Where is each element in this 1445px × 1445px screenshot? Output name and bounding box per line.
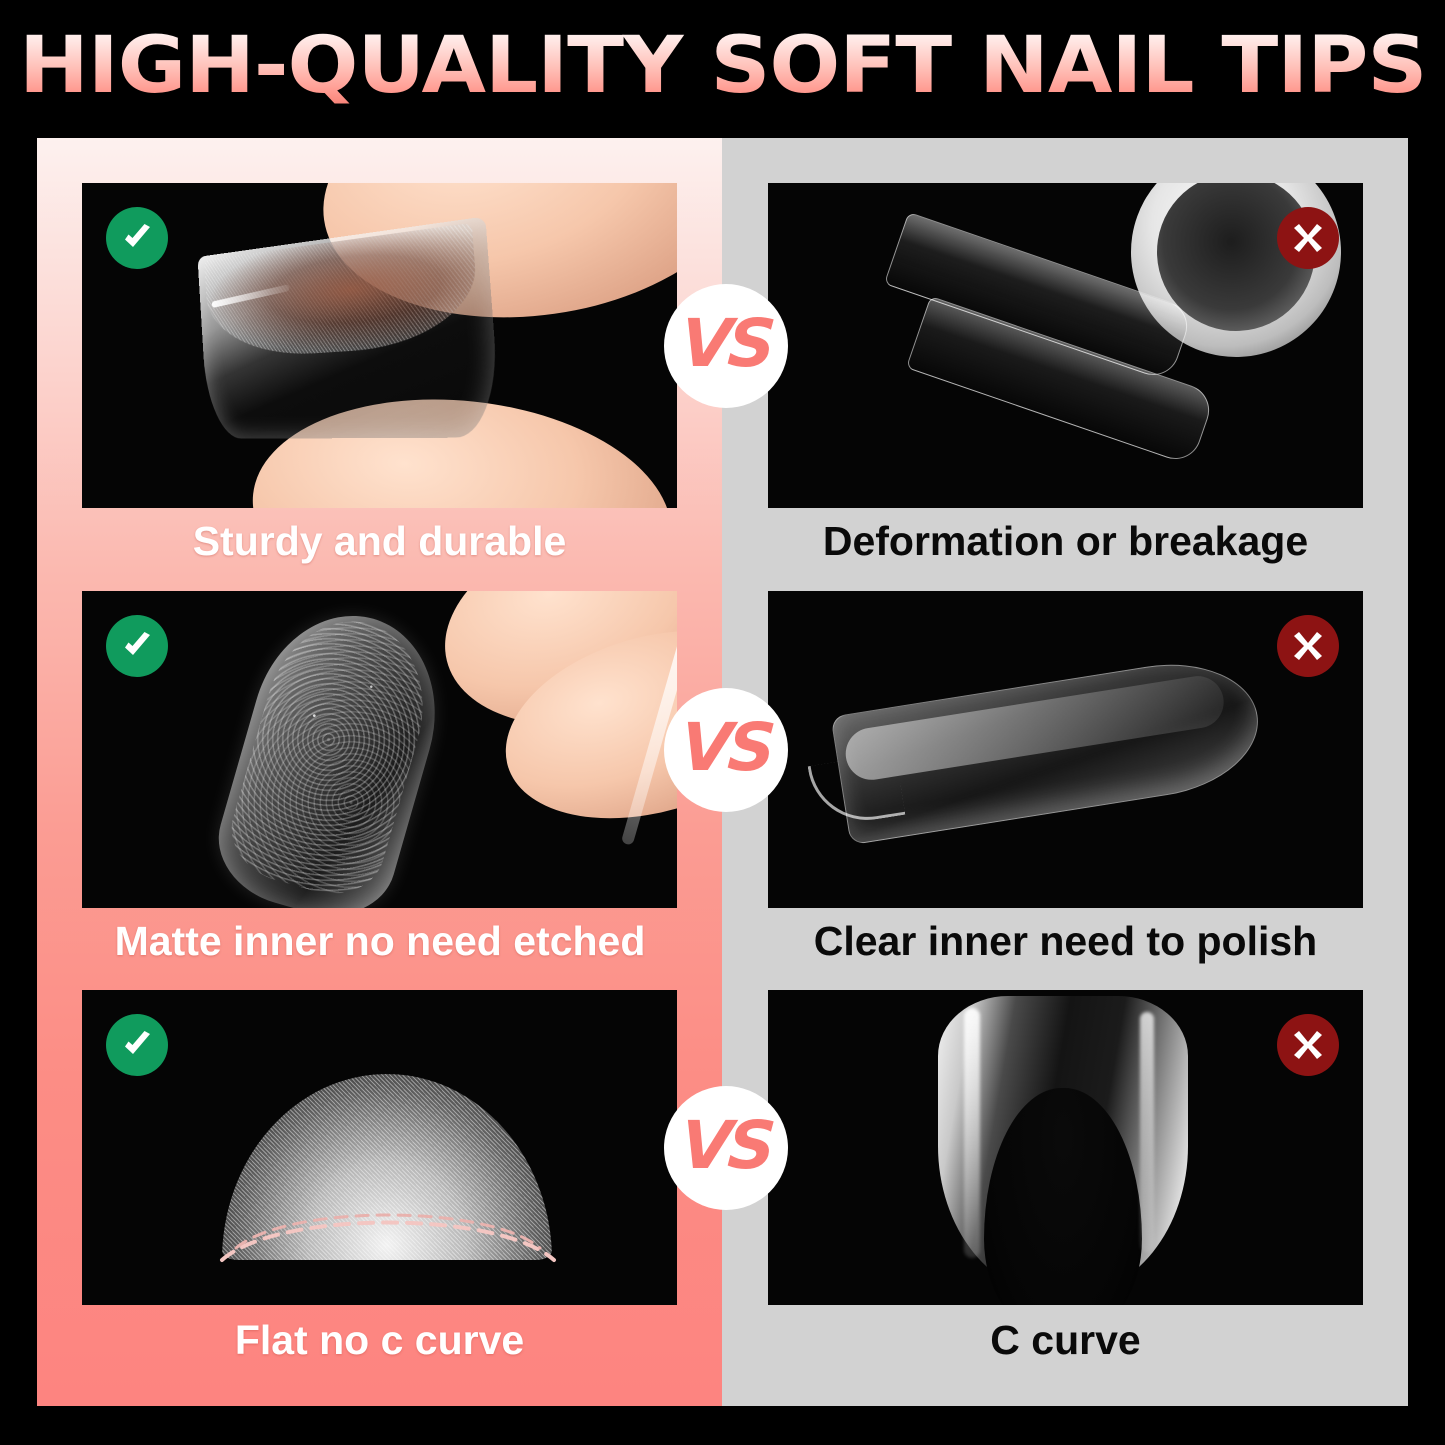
cross-icon bbox=[1277, 1014, 1339, 1076]
page-title: HIGH-QUALITY SOFT NAIL TIPS bbox=[19, 21, 1426, 111]
row-2-good-caption: Matte inner no need etched bbox=[70, 918, 690, 965]
cross-icon bbox=[1277, 207, 1339, 269]
row-3-good-photo bbox=[82, 990, 677, 1305]
infographic-poster: HIGH-QUALITY SOFT NAIL TIPS bbox=[0, 0, 1445, 1445]
row-1-bad-photo bbox=[768, 183, 1363, 508]
sheen-right bbox=[1140, 1012, 1154, 1252]
sheen-left bbox=[964, 1008, 980, 1258]
check-icon bbox=[106, 615, 168, 677]
row-3-good-caption: Flat no c curve bbox=[82, 1317, 677, 1364]
check-icon bbox=[106, 207, 168, 269]
check-icon bbox=[106, 1014, 168, 1076]
dashed-guide-line bbox=[208, 1186, 568, 1276]
row-3-bad-caption: C curve bbox=[768, 1317, 1363, 1364]
matte-nail-tip bbox=[204, 594, 460, 908]
row-2-bad-caption: Clear inner need to polish bbox=[768, 918, 1363, 965]
row-3-bad-photo bbox=[768, 990, 1363, 1305]
cross-icon bbox=[1277, 615, 1339, 677]
row-1-good-caption: Sturdy and durable bbox=[82, 518, 677, 565]
soft-nail-tip bbox=[197, 216, 501, 438]
row-1-good-photo bbox=[82, 183, 677, 508]
row-1-bad-caption: Deformation or breakage bbox=[768, 518, 1363, 565]
matte-texture bbox=[220, 603, 445, 907]
matte-surface bbox=[204, 223, 481, 360]
row-2-good-photo bbox=[82, 591, 677, 908]
title-banner: HIGH-QUALITY SOFT NAIL TIPS bbox=[0, 14, 1445, 118]
row-2-bad-photo bbox=[768, 591, 1363, 908]
